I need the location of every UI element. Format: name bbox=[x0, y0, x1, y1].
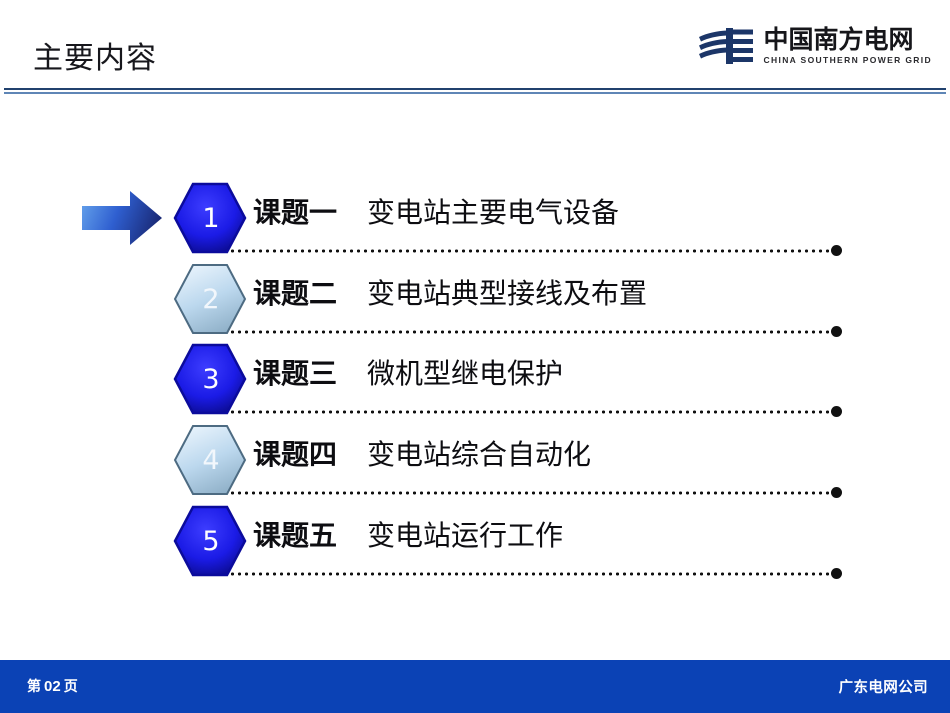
agenda-number: 3 bbox=[172, 340, 248, 418]
agenda-number: 2 bbox=[172, 260, 248, 338]
agenda-row[interactable]: 4 课题四变电站综合自动化 bbox=[0, 421, 950, 503]
agenda-number: 4 bbox=[172, 421, 248, 499]
agenda-leader-dot bbox=[831, 245, 842, 256]
page-number: 02 bbox=[41, 678, 64, 695]
agenda-subject: 变电站运行工作 bbox=[367, 519, 563, 552]
agenda-row-label: 课题五变电站运行工作 bbox=[253, 514, 563, 558]
agenda-list: 1 课题一变电站主要电气设备 bbox=[0, 0, 950, 713]
agenda-row-label: 课题一变电站主要电气设备 bbox=[253, 191, 619, 235]
agenda-number: 5 bbox=[172, 502, 248, 580]
agenda-topic: 课题三 bbox=[253, 357, 337, 390]
agenda-row[interactable]: 5 课题五变电站运行工作 bbox=[0, 502, 950, 584]
agenda-leader-line bbox=[229, 410, 835, 414]
agenda-topic: 课题二 bbox=[253, 277, 337, 310]
agenda-leader-line bbox=[229, 249, 835, 253]
page-suffix: 页 bbox=[64, 679, 78, 695]
agenda-subject: 变电站主要电气设备 bbox=[367, 196, 619, 229]
agenda-number: 1 bbox=[172, 179, 248, 257]
agenda-leader-dot bbox=[831, 568, 842, 579]
agenda-subject: 变电站典型接线及布置 bbox=[367, 277, 647, 310]
agenda-leader-line bbox=[229, 330, 835, 334]
agenda-row[interactable]: 1 课题一变电站主要电气设备 bbox=[0, 179, 950, 261]
agenda-topic: 课题一 bbox=[253, 196, 337, 229]
agenda-row-label: 课题二变电站典型接线及布置 bbox=[253, 272, 647, 316]
agenda-row[interactable]: 3 课题三微机型继电保护 bbox=[0, 340, 950, 422]
slide-canvas: 主要内容 中国南方电网 CHINA SOUTHERN POWER GRID bbox=[0, 0, 950, 713]
agenda-subject: 微机型继电保护 bbox=[367, 357, 563, 390]
agenda-row-label: 课题四变电站综合自动化 bbox=[253, 433, 591, 477]
agenda-row[interactable]: 2 课题二变电站典型接线及布置 bbox=[0, 260, 950, 342]
page-prefix: 第 bbox=[27, 679, 41, 695]
agenda-leader-dot bbox=[831, 406, 842, 417]
agenda-leader-line bbox=[229, 572, 835, 576]
agenda-topic: 课题四 bbox=[253, 438, 337, 471]
agenda-leader-line bbox=[229, 491, 835, 495]
footer-organization: 广东电网公司 bbox=[839, 676, 928, 697]
agenda-row-label: 课题三微机型继电保护 bbox=[253, 352, 563, 396]
agenda-topic: 课题五 bbox=[253, 519, 337, 552]
page-indicator: 第02页 bbox=[27, 676, 78, 696]
footer-bar: 第02页 广东电网公司 bbox=[0, 660, 950, 713]
agenda-subject: 变电站综合自动化 bbox=[367, 438, 591, 471]
agenda-leader-dot bbox=[831, 487, 842, 498]
agenda-leader-dot bbox=[831, 326, 842, 337]
